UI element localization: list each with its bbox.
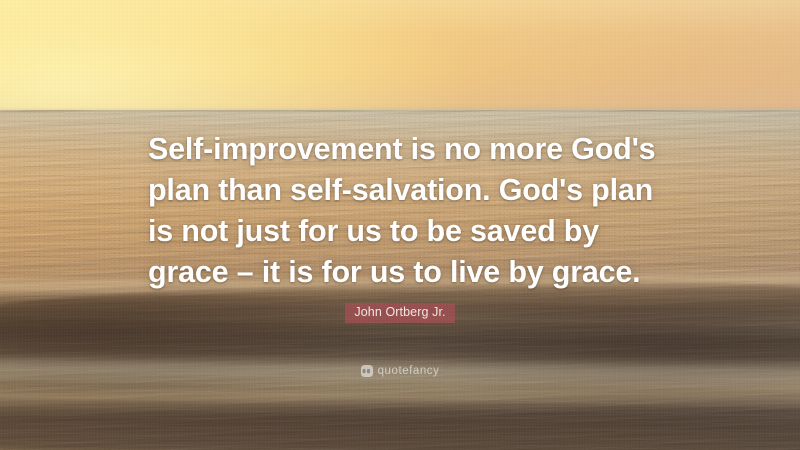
quote-poster: Self-improvement is no more God's plan t…: [0, 0, 800, 450]
quote-line-3: is not just for us to be saved by: [148, 211, 678, 252]
quote-line-2: plan than self-salvation. God's plan: [148, 170, 678, 211]
quote-mark-badge-icon: [361, 365, 373, 377]
watermark-text: quotefancy: [378, 365, 440, 377]
quote-text-block: Self-improvement is no more God's plan t…: [148, 129, 678, 293]
quote-line-1: Self-improvement is no more God's: [148, 129, 678, 170]
author-attribution-wrap: John Ortberg Jr.: [0, 303, 800, 323]
author-name: John Ortberg Jr.: [345, 303, 454, 323]
ocean-bottom-shadow: [0, 330, 800, 450]
watermark: quotefancy: [0, 365, 800, 377]
quote-line-4: grace – it is for us to live by grace.: [148, 252, 678, 293]
